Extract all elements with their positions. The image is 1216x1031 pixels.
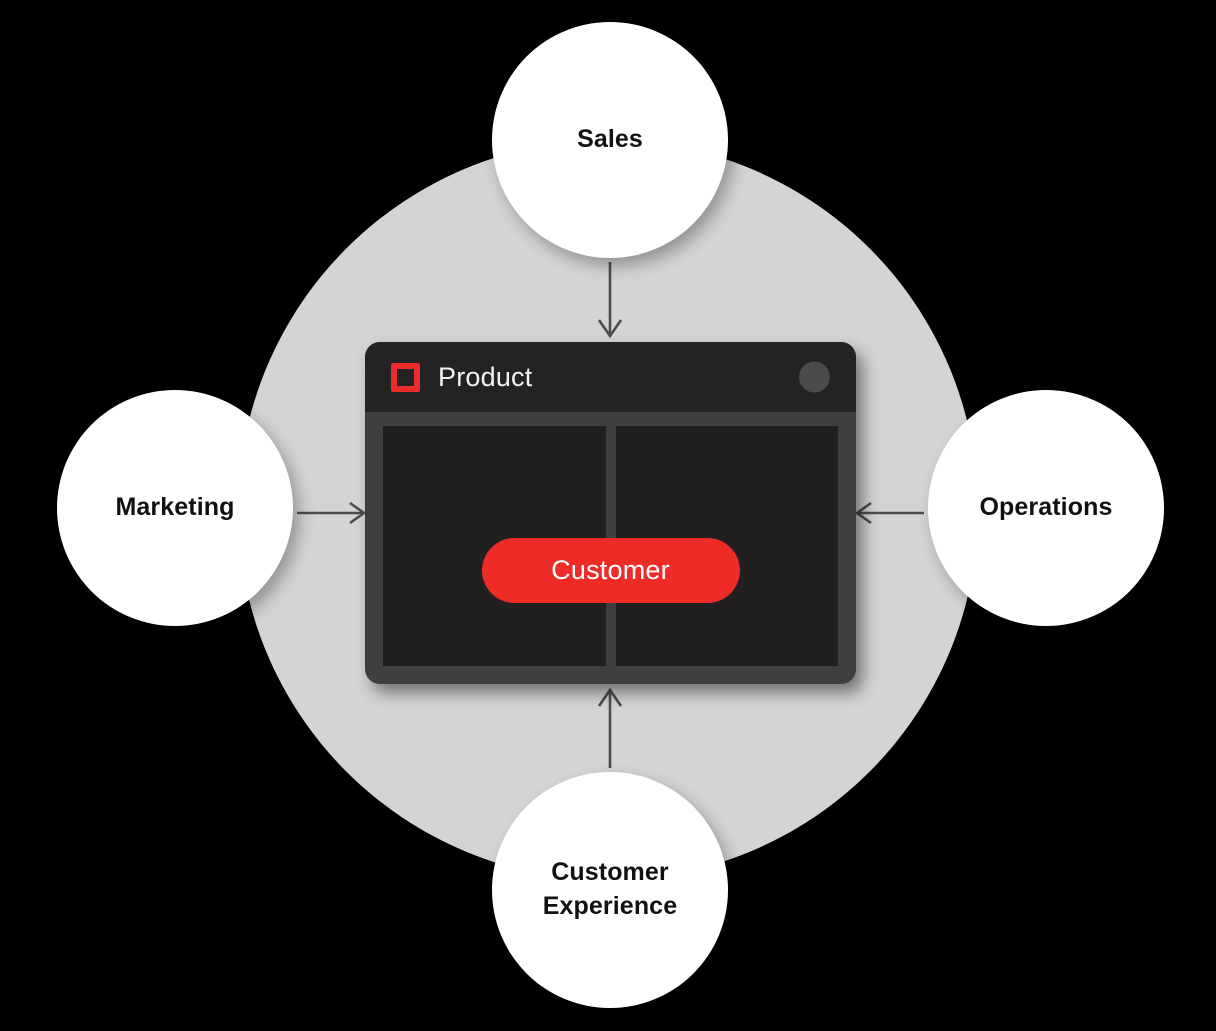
node-sales-label: Sales [577,123,643,157]
node-sales[interactable]: Sales [492,22,728,258]
node-customer-experience[interactable]: Customer Experience [492,772,728,1008]
node-marketing-label: Marketing [116,491,235,525]
node-marketing[interactable]: Marketing [57,390,293,626]
node-operations[interactable]: Operations [928,390,1164,626]
window-titlebar: Product [365,342,856,412]
circle-dot-icon[interactable] [799,362,830,393]
node-customer-experience-label: Customer Experience [543,856,677,924]
customer-pill[interactable]: Customer [482,538,740,603]
node-operations-label: Operations [980,491,1113,525]
diagram-canvas: Sales Marketing Operations Customer Expe… [0,0,1216,1031]
square-outline-icon [391,363,420,392]
product-window[interactable]: Product Customer [365,342,856,684]
window-title: Product [438,362,532,393]
node-cx-label-line1: Customer [543,856,677,890]
node-cx-label-line2: Experience [543,890,677,924]
